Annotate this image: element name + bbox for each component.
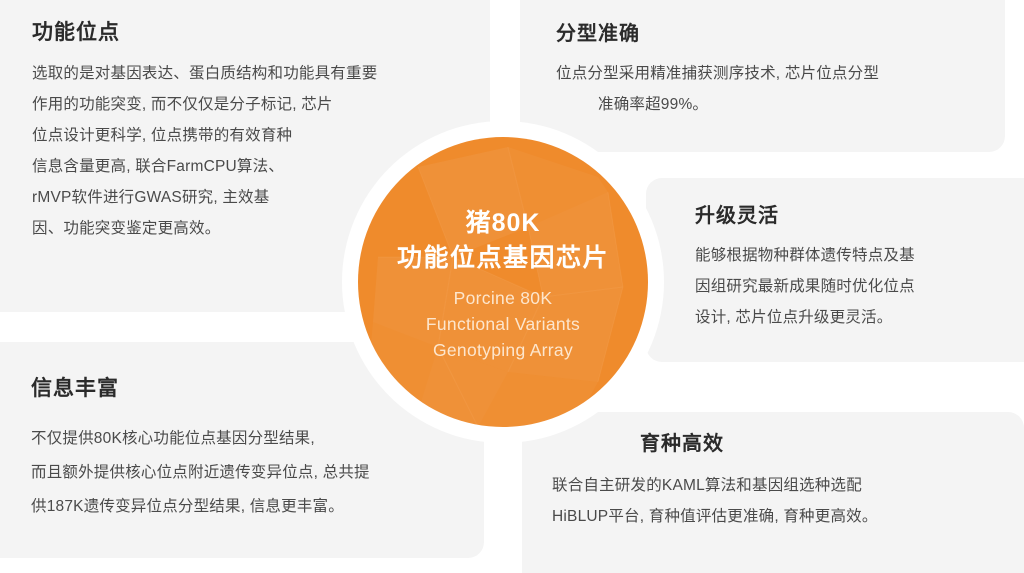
text-line: 位点分型采用精准捕获测序技术, 芯片位点分型: [556, 58, 879, 89]
text-line: 设计, 芯片位点升级更灵活。: [695, 302, 915, 333]
text-line: HiBLUP平台, 育种值评估更准确, 育种更高效。: [552, 501, 878, 532]
text-line: 准确率超99%。: [556, 89, 879, 120]
card-accurate-typing-body: 位点分型采用精准捕获测序技术, 芯片位点分型 准确率超99%。: [556, 58, 879, 120]
center-subtitle-line-3: Genotyping Array: [358, 337, 648, 363]
center-subtitle-line-1: Porcine 80K: [358, 285, 648, 311]
card-accurate-typing-title: 分型准确: [556, 24, 640, 44]
card-flexible-upgrade: 升级灵活 能够根据物种群体遗传特点及基 因组研究最新成果随时优化位点 设计, 芯…: [646, 178, 1024, 362]
text-line: 能够根据物种群体遗传特点及基: [695, 240, 915, 271]
text-line: 供187K遗传变异位点分型结果, 信息更丰富。: [31, 490, 370, 524]
card-rich-information-title: 信息丰富: [31, 378, 119, 399]
center-subtitle: Porcine 80K Functional Variants Genotypi…: [358, 285, 648, 363]
text-line: 选取的是对基因表达、蛋白质结构和功能具有重要: [32, 58, 377, 89]
text-line: 因组研究最新成果随时优化位点: [695, 271, 915, 302]
card-accurate-typing: 分型准确 位点分型采用精准捕获测序技术, 芯片位点分型 准确率超99%。: [520, 0, 1005, 152]
center-title-line-1: 猪80K: [358, 206, 648, 240]
center-circle-badge: 猪80K 功能位点基因芯片 Porcine 80K Functional Var…: [358, 137, 648, 427]
card-efficient-breeding-body: 联合自主研发的KAML算法和基因组选种选配 HiBLUP平台, 育种值评估更准确…: [552, 470, 878, 532]
text-line: 作用的功能突变, 而不仅仅是分子标记, 芯片: [32, 89, 377, 120]
card-efficient-breeding-title: 育种高效: [640, 434, 724, 454]
card-flexible-upgrade-body: 能够根据物种群体遗传特点及基 因组研究最新成果随时优化位点 设计, 芯片位点升级…: [695, 240, 915, 333]
center-title-line-2: 功能位点基因芯片: [358, 240, 648, 276]
center-subtitle-line-2: Functional Variants: [358, 311, 648, 337]
text-line: rMVP软件进行GWAS研究, 主效基: [32, 182, 377, 213]
text-line: 位点设计更科学, 位点携带的有效育种: [32, 120, 377, 151]
card-flexible-upgrade-title: 升级灵活: [695, 206, 779, 226]
card-functional-sites-title: 功能位点: [32, 22, 120, 43]
infographic-canvas: 功能位点 选取的是对基因表达、蛋白质结构和功能具有重要 作用的功能突变, 而不仅…: [0, 0, 1024, 573]
card-functional-sites-body: 选取的是对基因表达、蛋白质结构和功能具有重要 作用的功能突变, 而不仅仅是分子标…: [32, 58, 377, 244]
card-efficient-breeding: 育种高效 联合自主研发的KAML算法和基因组选种选配 HiBLUP平台, 育种值…: [522, 412, 1024, 573]
text-line: 联合自主研发的KAML算法和基因组选种选配: [552, 470, 878, 501]
text-line: 信息含量更高, 联合FarmCPU算法、: [32, 151, 377, 182]
text-line: 而且额外提供核心位点附近遗传变异位点, 总共提: [31, 456, 370, 490]
card-rich-information-body: 不仅提供80K核心功能位点基因分型结果, 而且额外提供核心位点附近遗传变异位点,…: [31, 422, 370, 524]
center-circle-text: 猪80K 功能位点基因芯片 Porcine 80K Functional Var…: [358, 202, 648, 363]
text-line: 不仅提供80K核心功能位点基因分型结果,: [31, 422, 370, 456]
text-line: 因、功能突变鉴定更高效。: [32, 213, 377, 244]
